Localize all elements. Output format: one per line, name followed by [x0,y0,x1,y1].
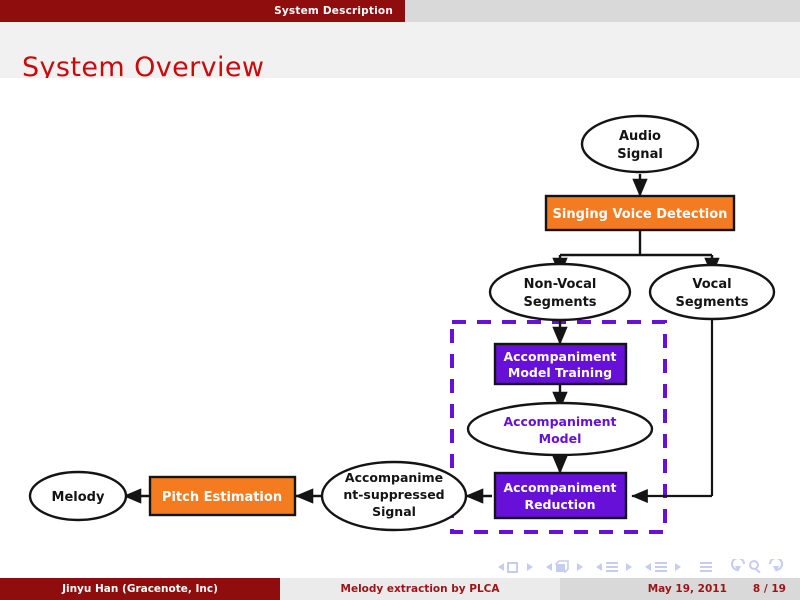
node-audio-signal[interactable]: Audio Signal [582,116,698,172]
nav-forward-icon [770,559,782,572]
nav-back-icon [732,559,744,572]
node-singing-voice-detection[interactable]: Singing Voice Detection [546,196,734,230]
footer-right: May 19, 2011 8 / 19 [560,578,800,600]
nav-first-section-icon [645,563,651,571]
node-non-vocal-segments-line1: Non-Vocal [524,277,597,292]
nav-first-slide-icon [498,563,504,571]
node-accompaniment-model-training-line1: Accompaniment [503,349,616,364]
nav-slide-icon [508,563,517,572]
node-pitch-estimation-label: Pitch Estimation [162,490,282,505]
system-overview-flowchart: Audio Signal Singing Voice Detection Non… [0,78,800,556]
beamer-slide: System Description System Overview [0,0,800,600]
footer-talk-title: Melody extraction by PLCA [280,578,560,600]
nav-last-section-icon [675,563,681,571]
node-audio-signal-line2: Signal [617,147,663,162]
node-vocal-segments[interactable]: Vocal Segments [650,265,774,319]
slide-footer: Jinyu Han (Gracenote, Inc) Melody extrac… [0,578,800,600]
node-accompaniment-model-line1: Accompaniment [503,414,616,429]
nav-search-icon [750,561,761,573]
node-pitch-estimation[interactable]: Pitch Estimation [150,477,295,515]
slide-body: Audio Signal Singing Voice Detection Non… [0,78,800,556]
node-accompaniment-suppressed-signal[interactable]: Accompanime nt-suppressed Signal [322,462,466,530]
footer-author: Jinyu Han (Gracenote, Inc) [0,578,280,600]
nav-last-subsection-icon [626,563,632,571]
nav-last-slide-icon [527,563,533,571]
node-melody[interactable]: Melody [30,472,126,520]
nav-frame-icon [556,561,568,572]
node-accompaniment-suppressed-signal-line2: nt-suppressed [343,487,444,502]
nav-last-frame-icon [577,563,583,571]
section-navigation-label: System Description [274,5,393,17]
node-accompaniment-reduction-line2: Reduction [524,497,595,512]
section-navigation-item[interactable]: System Description [0,0,405,22]
node-audio-signal-line1: Audio [619,129,661,144]
node-accompaniment-suppressed-signal-line3: Signal [372,504,416,519]
node-accompaniment-model-training-line2: Model Training [508,365,612,380]
title-band: System Overview [0,22,800,78]
node-accompaniment-model-line2: Model [539,431,582,446]
footer-date: May 19, 2011 [648,583,727,595]
node-accompaniment-model[interactable]: Accompaniment Model [468,403,652,455]
node-vocal-segments-line2: Segments [675,295,748,310]
node-accompaniment-model-training[interactable]: Accompaniment Model Training [495,344,626,384]
node-accompaniment-suppressed-signal-line1: Accompanime [345,470,443,485]
node-vocal-segments-line1: Vocal [692,277,731,292]
node-accompaniment-reduction[interactable]: Accompaniment Reduction [495,473,626,518]
nav-first-subsection-icon [596,563,602,571]
node-singing-voice-detection-label: Singing Voice Detection [553,207,728,222]
node-melody-label: Melody [52,490,105,505]
node-non-vocal-segments-line2: Segments [523,295,596,310]
headline-bar: System Description [0,0,800,22]
node-non-vocal-segments[interactable]: Non-Vocal Segments [490,264,630,320]
nav-document-icon [700,562,712,572]
nav-section-icon [655,562,667,572]
navigation-symbols[interactable] [0,556,800,578]
node-accompaniment-reduction-line1: Accompaniment [503,480,616,495]
footer-page-number: 8 / 19 [753,583,786,595]
nav-subsection-icon [606,562,618,572]
nav-first-frame-icon [546,563,552,571]
